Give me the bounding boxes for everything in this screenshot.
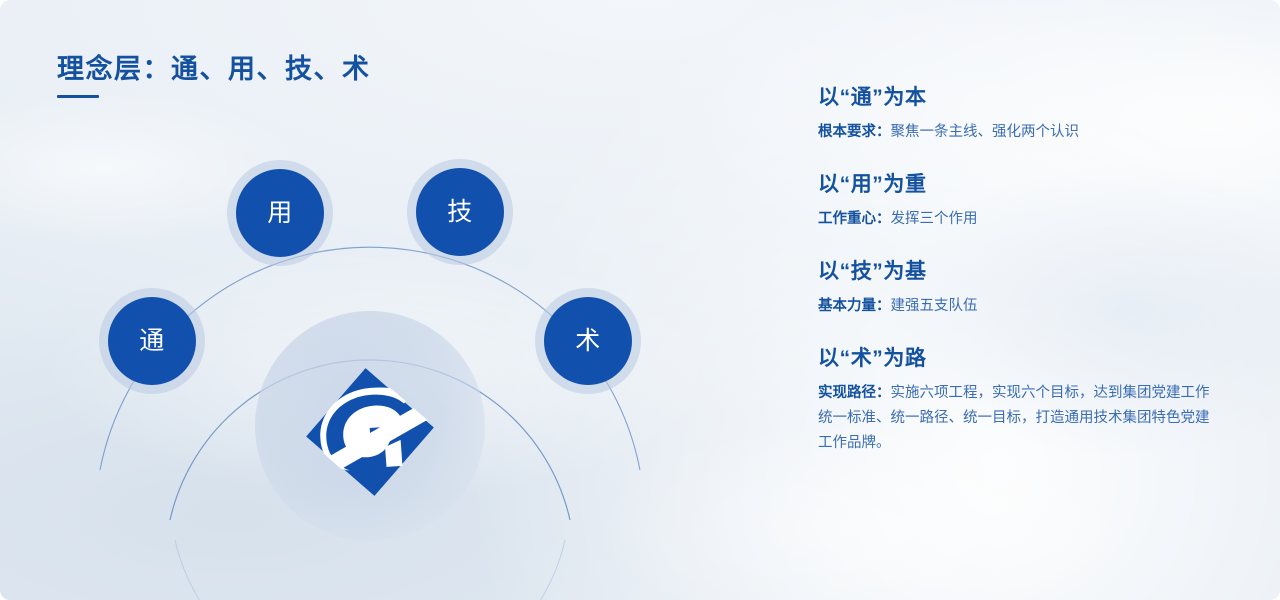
- detail-body: 根本要求：聚焦一条主线、强化两个认识: [818, 120, 1218, 145]
- detail-body: 实现路径：实施六项工程，实现六个目标，达到集团党建工作统一标准、统一路径、统一目…: [818, 381, 1218, 456]
- detail-body: 基本力量：建强五支队伍: [818, 294, 1218, 319]
- diagram-node-shu[interactable]: 术: [544, 297, 632, 385]
- node-label: 通: [139, 329, 165, 354]
- detail-text: 聚焦一条主线、强化两个认识: [891, 124, 1080, 140]
- node-label: 术: [575, 329, 601, 354]
- detail-heading: 以“通”为本: [818, 84, 1218, 112]
- slide-canvas: 理念层：通、用、技、术 通 用 技 术: [0, 0, 1280, 600]
- detail-heading: 以“用”为重: [818, 171, 1218, 199]
- detail-body: 工作重心：发挥三个作用: [818, 207, 1218, 232]
- detail-label: 根本要求：: [818, 124, 891, 140]
- node-label: 技: [447, 200, 473, 225]
- node-label: 用: [267, 201, 293, 226]
- diagram-node-ji[interactable]: 技: [416, 168, 504, 256]
- diagram-node-yong[interactable]: 用: [236, 169, 324, 257]
- detail-heading: 以“术”为路: [818, 345, 1218, 373]
- diagram-node-tong[interactable]: 通: [108, 297, 196, 385]
- title-underline-rule: [57, 95, 99, 98]
- title-block: 理念层：通、用、技、术: [57, 52, 371, 98]
- detail-item-yong: 以“用”为重 工作重心：发挥三个作用: [818, 171, 1218, 232]
- page-title: 理念层：通、用、技、术: [57, 52, 371, 86]
- detail-label: 基本力量：: [818, 298, 891, 314]
- detail-text: 发挥三个作用: [891, 211, 978, 227]
- detail-item-shu: 以“术”为路 实现路径：实施六项工程，实现六个目标，达到集团党建工作统一标准、统…: [818, 345, 1218, 456]
- detail-item-ji: 以“技”为基 基本力量：建强五支队伍: [818, 258, 1218, 319]
- inner-ring-arc-lower: [175, 540, 565, 600]
- detail-label: 工作重心：: [818, 211, 891, 227]
- detail-list: 以“通”为本 根本要求：聚焦一条主线、强化两个认识 以“用”为重 工作重心：发挥…: [818, 84, 1218, 456]
- gt-group-logo-icon: [300, 362, 440, 502]
- detail-text: 建强五支队伍: [891, 298, 978, 314]
- detail-label: 实现路径：: [818, 385, 891, 401]
- detail-item-tong: 以“通”为本 根本要求：聚焦一条主线、强化两个认识: [818, 84, 1218, 145]
- detail-heading: 以“技”为基: [818, 258, 1218, 286]
